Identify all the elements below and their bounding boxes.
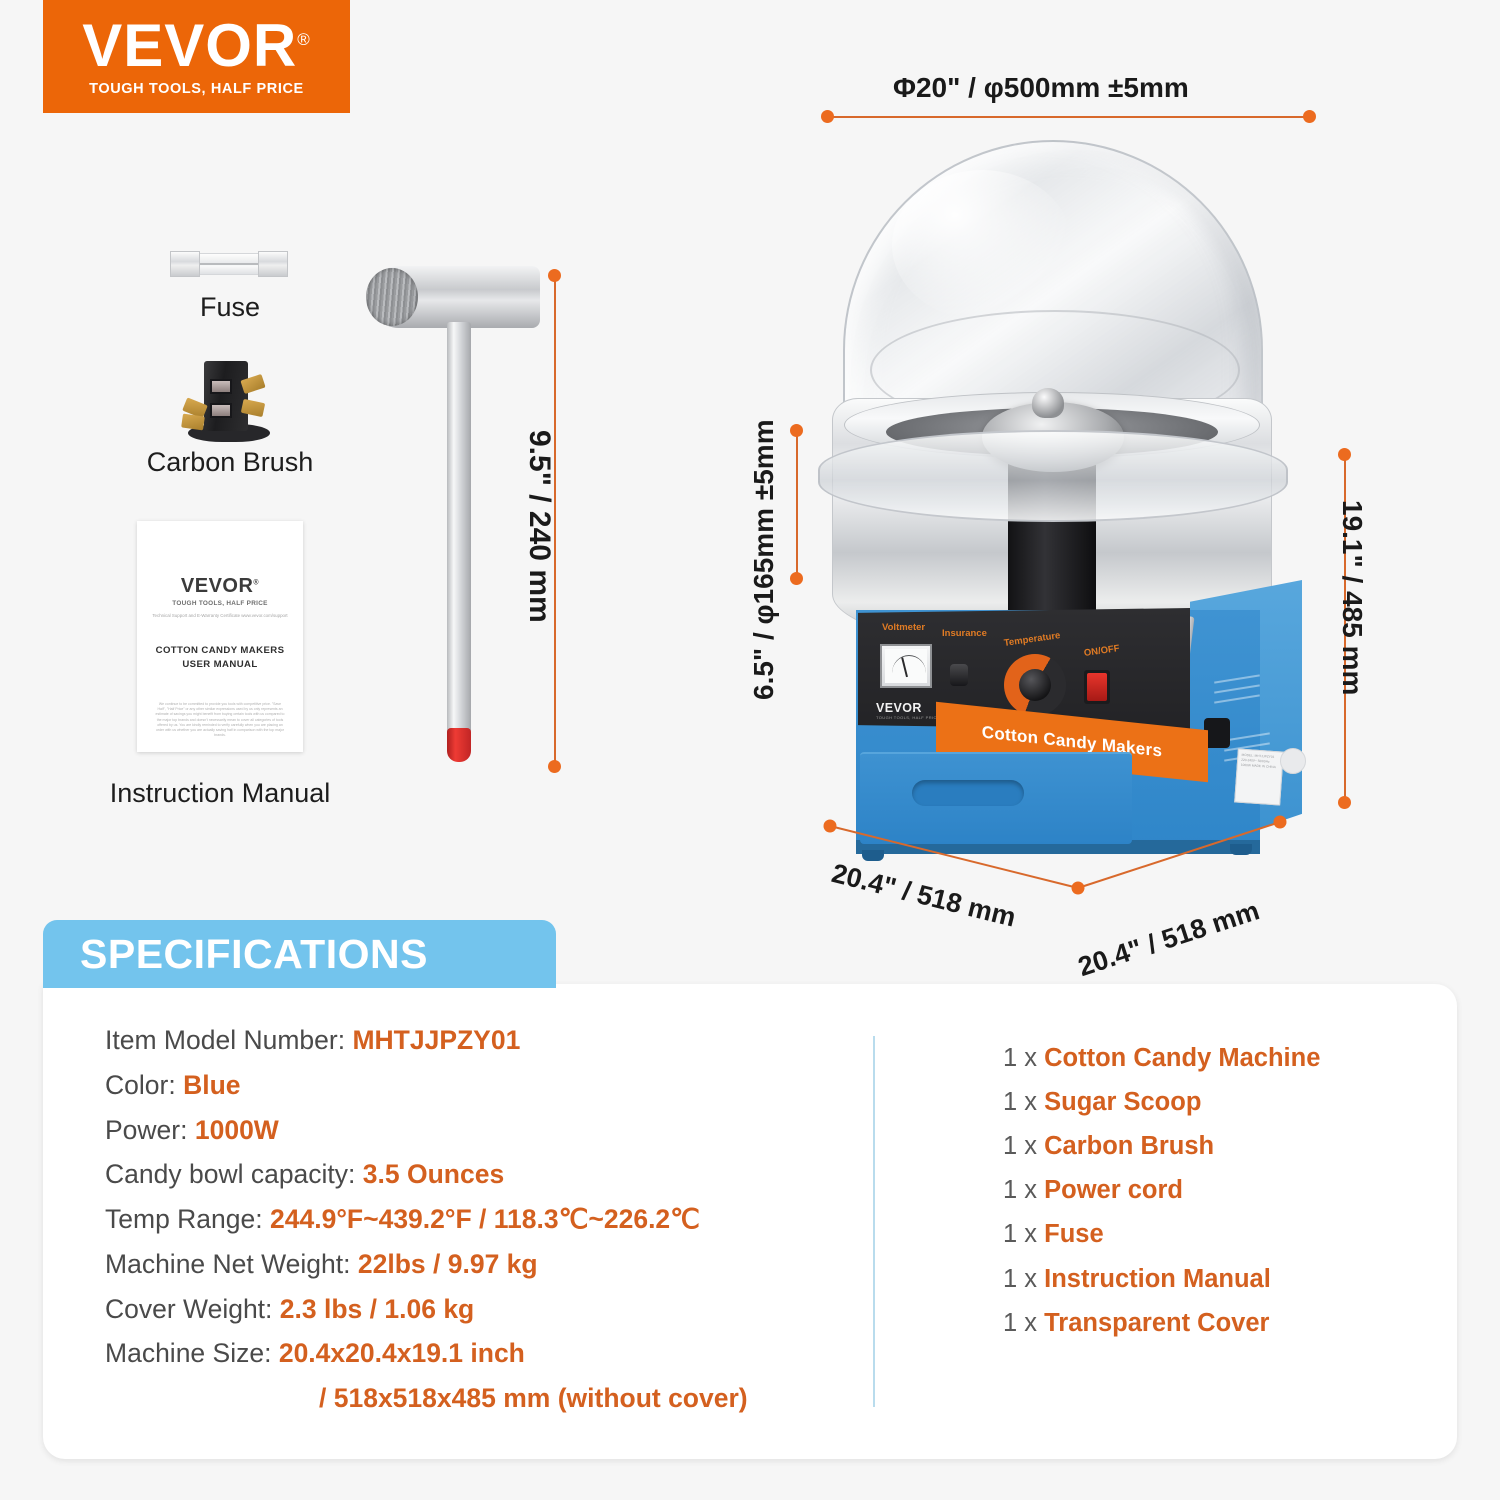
spec-value: 2.3 lbs / 1.06 kg [280, 1294, 474, 1324]
spec-row-continuation: / 518x518x485 mm (without cover) [105, 1376, 873, 1421]
manual-brand: VEVOR® [181, 575, 259, 598]
spec-value: / 518x518x485 mm (without cover) [319, 1383, 748, 1413]
panel-brand: VEVORTOUGH TOOLS, HALF PRICE [876, 701, 940, 720]
voltmeter-gauge [880, 644, 932, 688]
specifications-title: SPECIFICATIONS [80, 931, 428, 978]
dimension-label-scoop-length: 9.5" / 240 mm [522, 430, 556, 623]
specifications-card: Item Model Number: MHTJJPZY01 Color: Blu… [43, 984, 1457, 1459]
spec-label: Color: [105, 1070, 176, 1100]
certification-badge-icon [1280, 748, 1306, 774]
temperature-knob[interactable] [1019, 669, 1051, 701]
spec-label: Power: [105, 1115, 187, 1145]
accessory-label-fuse: Fuse [130, 292, 330, 323]
spec-label: Candy bowl capacity: [105, 1159, 355, 1189]
panel-label-voltmeter: Voltmeter [882, 622, 925, 633]
manual-title: COTTON CANDY MAKERSUSER MANUAL [156, 644, 285, 672]
manual-tagline: TOUGH TOOLS, HALF PRICE [172, 600, 267, 607]
package-qty: 1 x [1003, 1220, 1037, 1248]
spec-value: 3.5 Ounces [363, 1159, 504, 1189]
spec-row: Power: 1000W [105, 1108, 873, 1153]
spec-value: 22lbs / 9.97 kg [358, 1249, 538, 1279]
spec-row: Candy bowl capacity: 3.5 Ounces [105, 1152, 873, 1197]
package-qty: 1 x [1003, 1132, 1037, 1160]
list-item: 1 x Transparent Cover [875, 1301, 1457, 1345]
spec-value: MHTJJPZY01 [352, 1025, 520, 1055]
spec-label: Temp Range: [105, 1204, 263, 1234]
package-item-name: Instruction Manual [1044, 1265, 1271, 1293]
dimension-dot [548, 269, 561, 282]
registered-mark-icon: ® [297, 30, 311, 49]
panel-label-temperature: Temperature [1003, 630, 1061, 649]
list-item: 1 x Fuse [875, 1212, 1457, 1256]
dome-highlight [892, 170, 1072, 320]
spec-row: Temp Range: 244.9°F~439.2°F / 118.3℃~226… [105, 1197, 873, 1242]
spec-value: 244.9°F~439.2°F / 118.3℃~226.2℃ [270, 1204, 700, 1234]
spec-label: Machine Size: [105, 1338, 271, 1368]
spec-label: Item Model Number: [105, 1025, 345, 1055]
accessory-label-carbon-brush: Carbon Brush [110, 447, 350, 478]
product-spec-page: VEVOR® TOUGH TOOLS, HALF PRICE Fuse Carb… [0, 0, 1500, 1500]
spec-row: Machine Net Weight: 22lbs / 9.97 kg [105, 1242, 873, 1287]
package-contents-list: 1 x Cotton Candy Machine 1 x Sugar Scoop… [873, 1036, 1457, 1407]
package-qty: 1 x [1003, 1176, 1037, 1204]
spec-label: Machine Net Weight: [105, 1249, 351, 1279]
list-item: 1 x Power cord [875, 1168, 1457, 1212]
dimension-label-dome-diameter: Φ20" / φ500mm ±5mm [893, 72, 1189, 104]
dimension-dot [1303, 110, 1316, 123]
spec-row: Machine Size: 20.4x20.4x19.1 inch [105, 1331, 873, 1376]
package-item-name: Fuse [1044, 1220, 1104, 1248]
spec-row: Item Model Number: MHTJJPZY01 [105, 1018, 873, 1063]
vevor-logo: VEVOR® TOUGH TOOLS, HALF PRICE [43, 0, 350, 113]
dimension-dot [821, 110, 834, 123]
list-item: 1 x Cotton Candy Machine [875, 1036, 1457, 1080]
logo-text: VEVOR [82, 12, 297, 79]
spinner-knob [1032, 388, 1064, 418]
manual-support-line: Technical Support and E-Warranty Certifi… [150, 613, 289, 618]
specifications-list: Item Model Number: MHTJJPZY01 Color: Blu… [43, 1018, 873, 1421]
insurance-fuse-holder[interactable] [950, 664, 968, 686]
package-qty: 1 x [1003, 1309, 1037, 1337]
manual-disclaimer: We continue to be committed to provide y… [155, 702, 284, 739]
list-item: 1 x Sugar Scoop [875, 1080, 1457, 1124]
spec-row: Cover Weight: 2.3 lbs / 1.06 kg [105, 1287, 873, 1332]
package-item-name: Cotton Candy Machine [1044, 1044, 1320, 1072]
manual-icon: VEVOR® TOUGH TOOLS, HALF PRICE Technical… [137, 521, 303, 752]
package-item-name: Transparent Cover [1044, 1309, 1269, 1337]
power-switch[interactable] [1084, 670, 1110, 704]
package-item-name: Sugar Scoop [1044, 1088, 1201, 1116]
dimension-label-machine-height: 19.1" / 485 mm [1336, 500, 1368, 695]
logo-wordmark: VEVOR® [82, 17, 311, 74]
dimension-label-bowl-diameter: 6.5" / φ165mm ±5mm [748, 419, 780, 700]
package-qty: 1 x [1003, 1265, 1037, 1293]
dome-lip [818, 430, 1288, 522]
specifications-header: SPECIFICATIONS [43, 920, 556, 988]
dimension-dot [548, 760, 561, 773]
dimension-line-bowl [796, 430, 798, 578]
list-item: 1 x Instruction Manual [875, 1257, 1457, 1301]
panel-label-on-off: ON/OFF [1083, 643, 1120, 659]
panel-label-insurance: Insurance [942, 628, 987, 639]
spec-value: 20.4x20.4x19.1 inch [279, 1338, 525, 1368]
package-item-name: Power cord [1044, 1176, 1183, 1204]
fuse-icon [170, 251, 288, 277]
package-item-name: Carbon Brush [1044, 1132, 1214, 1160]
accessory-label-instruction-manual: Instruction Manual [85, 778, 355, 809]
specifications-section: SPECIFICATIONS Item Model Number: MHTJJP… [43, 920, 1457, 1459]
spec-value: Blue [183, 1070, 240, 1100]
logo-tagline: TOUGH TOOLS, HALF PRICE [89, 81, 304, 97]
list-item: 1 x Carbon Brush [875, 1124, 1457, 1168]
spec-row: Color: Blue [105, 1063, 873, 1108]
package-qty: 1 x [1003, 1088, 1037, 1116]
dimension-line-dome [828, 116, 1310, 118]
cotton-candy-machine-image: MODEL: MHTJJPZY01 220-240V~ 50/60Hz 1000… [800, 140, 1340, 900]
spec-label: Cover Weight: [105, 1294, 272, 1324]
carbon-brush-icon [176, 355, 284, 447]
spec-value: 1000W [195, 1115, 279, 1145]
package-qty: 1 x [1003, 1044, 1037, 1072]
